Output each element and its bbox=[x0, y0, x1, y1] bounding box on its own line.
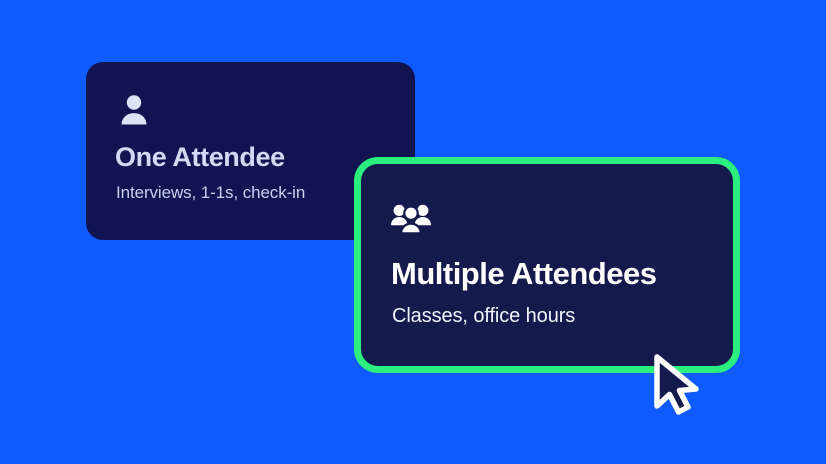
attendee-option-card-multiple-attendees[interactable]: Multiple Attendees Classes, office hours bbox=[354, 157, 740, 373]
attendee-type-selector: One Attendee Interviews, 1-1s, check-in … bbox=[0, 0, 826, 464]
group-people-icon bbox=[391, 202, 431, 236]
card-subtitle: Interviews, 1-1s, check-in bbox=[116, 182, 305, 204]
card-title: Multiple Attendees bbox=[391, 255, 656, 292]
card-subtitle: Classes, office hours bbox=[392, 303, 575, 329]
card-title: One Attendee bbox=[115, 141, 285, 175]
single-person-icon bbox=[117, 93, 151, 127]
